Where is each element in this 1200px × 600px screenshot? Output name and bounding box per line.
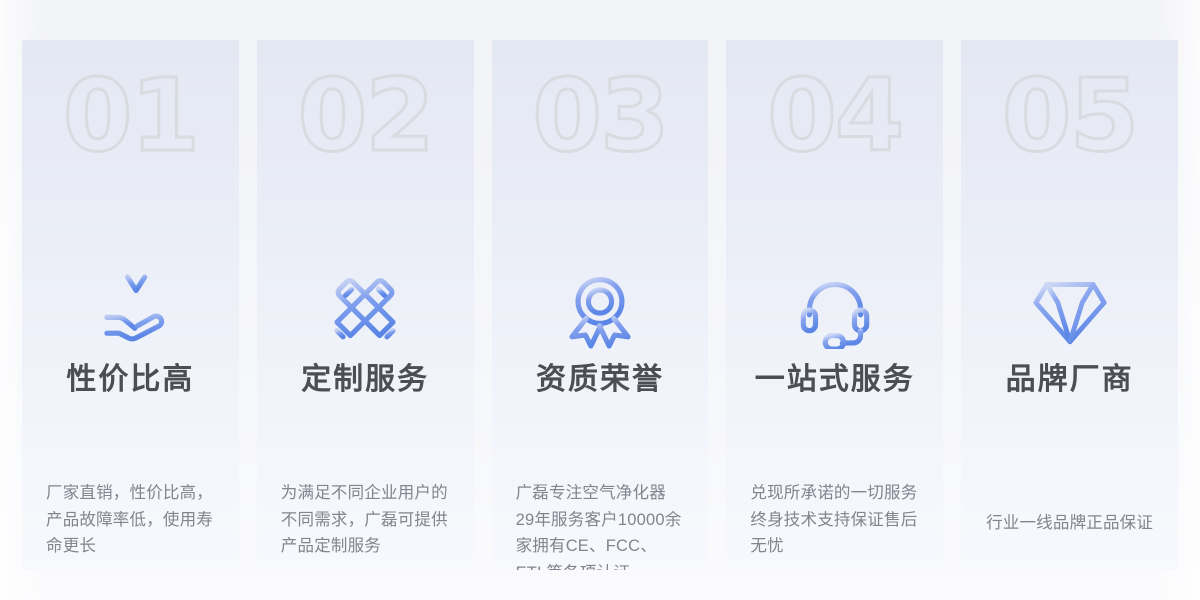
advantages-section: 01 <box>0 0 1200 600</box>
headset-icon <box>726 262 943 358</box>
card-description: 兑现所承诺的一切服务终身技术支持保证售后无忧 <box>750 480 919 560</box>
card-number-watermark: 04 <box>726 66 943 166</box>
card-number-watermark: 02 <box>257 66 474 166</box>
card-number-watermark: 03 <box>492 66 709 166</box>
advantage-card-4[interactable]: 04 <box>726 40 943 570</box>
card-description: 为满足不同企业用户的不同需求，广磊可提供产品定制服务 <box>281 480 450 560</box>
card-title: 资质荣誉 <box>492 362 709 398</box>
advantage-card-list: 01 <box>22 40 1178 570</box>
card-title: 一站式服务 <box>726 362 943 398</box>
advantage-card-1[interactable]: 01 <box>22 40 239 570</box>
diamond-icon <box>961 262 1178 358</box>
advantage-card-2[interactable]: 02 <box>257 40 474 570</box>
card-title: 品牌厂商 <box>961 362 1178 398</box>
card-number-watermark: 01 <box>22 66 239 166</box>
crossed-pens-icon <box>257 262 474 358</box>
card-number-watermark: 05 <box>961 66 1178 166</box>
advantage-card-5[interactable]: 05 <box>961 40 1178 570</box>
card-description: 厂家直销，性价比高，产品故障率低，使用寿命更长 <box>46 480 215 560</box>
award-medal-icon <box>492 262 709 358</box>
advantage-card-3[interactable]: 03 <box>492 40 709 570</box>
card-title: 性价比高 <box>22 362 239 398</box>
card-title: 定制服务 <box>257 362 474 398</box>
card-description: 行业一线品牌正品保证 <box>971 510 1168 537</box>
hand-holding-yuan-icon <box>22 262 239 358</box>
card-description: 广磊专注空气净化器29年服务客户10000余家拥有CE、FCC、ETL等各项认证 <box>516 480 685 570</box>
